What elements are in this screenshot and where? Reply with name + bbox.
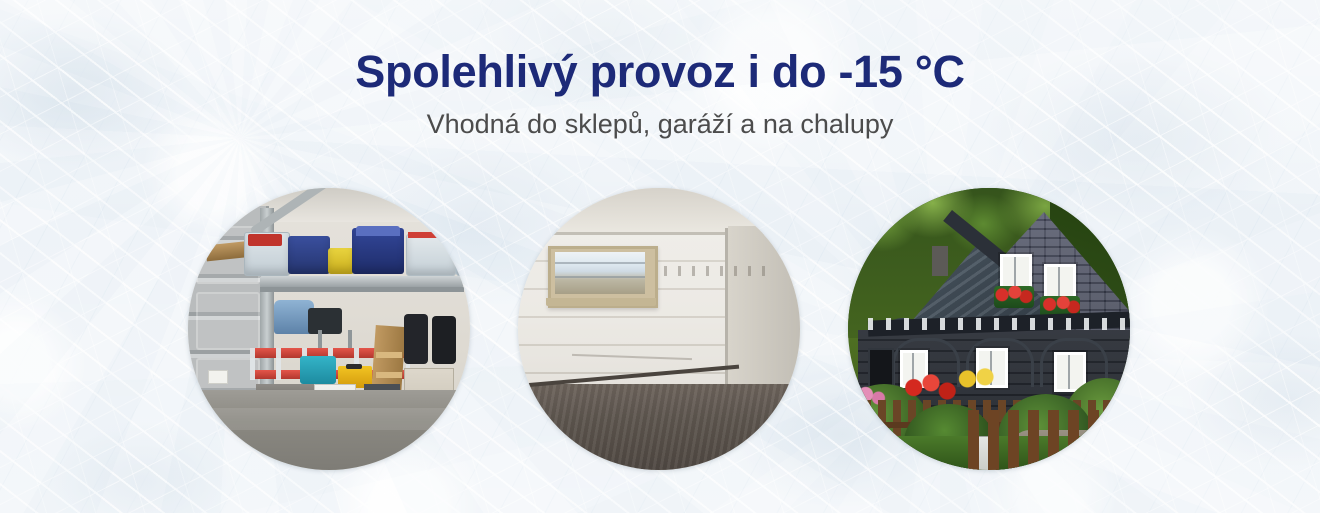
cellar-scene xyxy=(518,188,800,470)
flowerbox-icon xyxy=(994,286,1034,308)
cottage-scene xyxy=(848,188,1130,470)
garage-scene xyxy=(188,188,470,470)
photo-cellar xyxy=(518,188,800,470)
fence-icon xyxy=(968,410,1130,470)
photo-row xyxy=(0,188,1320,472)
banner-text-block: Spolehlivý provoz i do -15 °C Vhodná do … xyxy=(0,48,1320,139)
photo-cottage xyxy=(848,188,1130,470)
photo-garage xyxy=(188,188,470,470)
banner-subtitle: Vhodná do sklepů, garáží a na chalupy xyxy=(0,110,1320,140)
banner-headline: Spolehlivý provoz i do -15 °C xyxy=(0,48,1320,96)
promo-banner: Spolehlivý provoz i do -15 °C Vhodná do … xyxy=(0,0,1320,513)
